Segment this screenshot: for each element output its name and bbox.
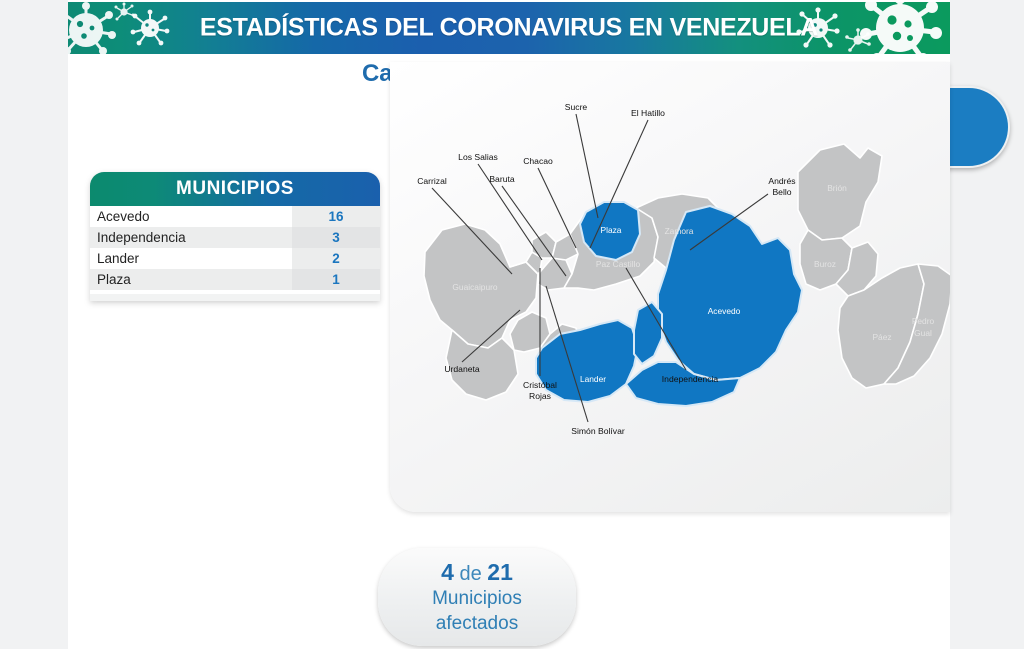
callout-label-sucre: Sucre (565, 102, 588, 112)
affected-municipalities-badge: 4 de 21 Municipios afectados (378, 548, 576, 646)
municipio-name: Independencia (90, 230, 292, 245)
map-label-acevedo: Acevedo (708, 306, 741, 316)
map-label-gual: Gual (914, 328, 932, 338)
map-label-buroz: Buroz (814, 259, 836, 269)
table-footer-strip (90, 294, 380, 301)
callout-label-baruta: Baruta (489, 174, 515, 184)
map-label-brion: Brión (827, 183, 847, 193)
map-label-lander: Lander (580, 374, 606, 384)
map-panel: Plaza Zamora Brión Buroz Acevedo Páez Pe… (390, 62, 950, 512)
callout-label-independencia: Independencia (662, 374, 719, 384)
map-label-paez: Páez (872, 332, 891, 342)
miranda-map[interactable]: Plaza Zamora Brión Buroz Acevedo Páez Pe… (390, 62, 950, 512)
callout-label-los-salias: Los Salias (458, 152, 498, 162)
table-header: MUNICIPIOS (90, 172, 380, 206)
municipios-table: MUNICIPIOS Acevedo 16 Independencia 3 La… (90, 172, 380, 301)
callout-label-el-hatillo: El Hatillo (631, 108, 665, 118)
municipio-name: Plaza (90, 272, 292, 287)
municipio-count: 3 (292, 227, 380, 248)
callout-label-bello: Bello (772, 187, 791, 197)
table-row[interactable]: Independencia 3 (90, 227, 380, 248)
table-body: Acevedo 16 Independencia 3 Lander 2 Plaz… (90, 206, 380, 294)
affected-total: 21 (487, 559, 513, 585)
affected-de: de (454, 563, 487, 585)
map-label-zamora: Zamora (665, 226, 694, 236)
municipio-count: 1 (292, 269, 380, 290)
municipio-name: Lander (90, 251, 292, 266)
callout-label-cristobal: Cristóbal (523, 380, 557, 390)
callout-label-andres: Andrés (768, 176, 795, 186)
affected-count: 4 (441, 559, 454, 585)
map-label-paz-castillo: Paz Castillo (596, 259, 641, 269)
municipio-name: Acevedo (90, 209, 292, 224)
table-row[interactable]: Plaza 1 (90, 269, 380, 290)
callout-label-chacao: Chacao (523, 156, 553, 166)
affected-line-3: afectados (378, 611, 576, 636)
map-label-plaza: Plaza (601, 225, 622, 235)
affected-ratio: 4 de 21 (378, 560, 576, 586)
page-title: ESTADÍSTICAS DEL CORONAVIRUS EN VENEZUEL… (68, 14, 950, 43)
header-bar: ESTADÍSTICAS DEL CORONAVIRUS EN VENEZUEL… (68, 2, 950, 54)
table-row[interactable]: Acevedo 16 (90, 206, 380, 227)
map-label-pedro: Pedro (912, 316, 935, 326)
map-region-independencia[interactable] (634, 302, 662, 364)
map-label-guaicaipuro: Guaicaipuro (452, 282, 498, 292)
callout-label-simon-bolivar: Simón Bolívar (571, 426, 625, 436)
table-row[interactable]: Lander 2 (90, 248, 380, 269)
callout-label-rojas: Rojas (529, 391, 551, 401)
callout-label-urdaneta: Urdaneta (444, 364, 480, 374)
municipio-count: 2 (292, 248, 380, 269)
municipio-count: 16 (292, 206, 380, 227)
callout-label-carrizal: Carrizal (417, 176, 447, 186)
affected-line-2: Municipios (378, 586, 576, 611)
